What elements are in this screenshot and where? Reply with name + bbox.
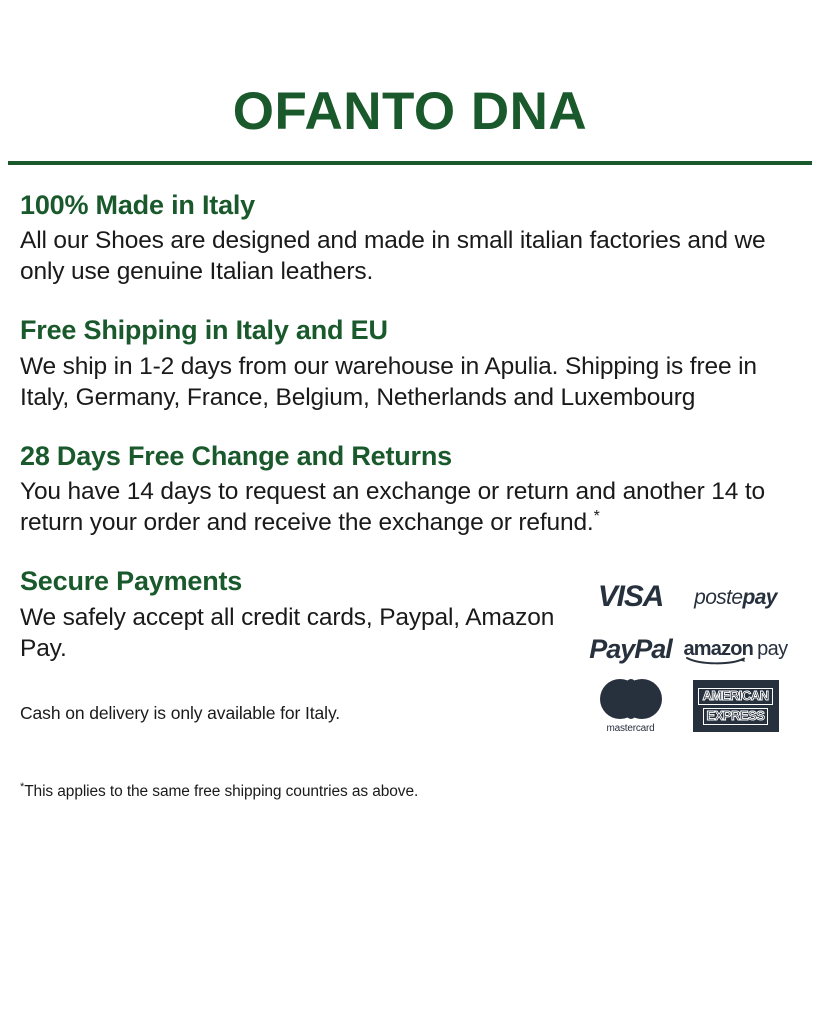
mastercard-circles	[600, 679, 662, 719]
secure-payments-text: Secure Payments We safely accept all cre…	[20, 565, 560, 724]
section-body-text: You have 14 days to request an exchange …	[20, 478, 765, 536]
section-made-in-italy: 100% Made in Italy All our Shoes are des…	[20, 189, 800, 288]
footnote-text: This applies to the same free shipping c…	[24, 783, 418, 800]
paypal-logo-cell: PayPal	[578, 623, 683, 675]
american-express-icon: AMERICAN EXPRESS	[693, 680, 779, 732]
visa-logo-cell: VISA	[578, 571, 683, 623]
ofanto-dna-info-page: OFANTO DNA 100% Made in Italy All our Sh…	[0, 0, 820, 1024]
sections-container: 100% Made in Italy All our Shoes are des…	[0, 189, 820, 738]
footnote-marker: *	[594, 508, 600, 525]
cash-on-delivery-note: Cash on delivery is only available for I…	[20, 702, 560, 725]
postepay-part-bold: pay	[742, 586, 776, 609]
paypal-icon: PayPal	[589, 636, 672, 663]
amex-logo-cell: AMERICAN EXPRESS	[683, 675, 788, 737]
postepay-part-light: poste	[694, 586, 742, 609]
title-block: OFANTO DNA	[0, 0, 820, 165]
amazon-smile-swoosh	[686, 656, 750, 665]
title-divider	[8, 161, 812, 165]
section-body: All our Shoes are designed and made in s…	[20, 225, 800, 287]
section-heading: 100% Made in Italy	[20, 189, 800, 221]
postepay-icon: postepay	[694, 587, 777, 608]
mastercard-overlap	[622, 679, 640, 719]
amazon-pay-logo-cell: amazonpay	[683, 623, 788, 675]
postepay-logo-cell: postepay	[683, 571, 788, 623]
amazon-pay-text: pay	[757, 638, 787, 660]
payment-logos-grid: VISA postepay PayPal amazonpay	[578, 571, 788, 737]
visa-icon: VISA	[598, 582, 663, 612]
section-body: You have 14 days to request an exchange …	[20, 476, 800, 538]
amazon-wordmark: amazon	[683, 639, 753, 659]
section-body: We ship in 1-2 days from our warehouse i…	[20, 351, 800, 413]
section-body: We safely accept all credit cards, Paypa…	[20, 602, 560, 664]
section-heading: Free Shipping in Italy and EU	[20, 314, 800, 346]
section-free-shipping: Free Shipping in Italy and EU We ship in…	[20, 314, 800, 413]
mastercard-label: mastercard	[606, 723, 654, 734]
amazon-pay-icon: amazonpay	[683, 639, 787, 659]
section-returns: 28 Days Free Change and Returns You have…	[20, 440, 800, 539]
section-heading: Secure Payments	[20, 565, 560, 597]
section-heading: 28 Days Free Change and Returns	[20, 440, 800, 472]
amex-line-1: AMERICAN	[698, 688, 772, 705]
page-title: OFANTO DNA	[0, 84, 820, 140]
section-secure-payments: Secure Payments We safely accept all cre…	[20, 565, 800, 737]
amex-line-2: EXPRESS	[703, 708, 769, 725]
mastercard-logo-cell: mastercard	[578, 675, 683, 737]
mastercard-icon: mastercard	[600, 679, 662, 734]
page-footnote: *This applies to the same free shipping …	[0, 783, 820, 801]
